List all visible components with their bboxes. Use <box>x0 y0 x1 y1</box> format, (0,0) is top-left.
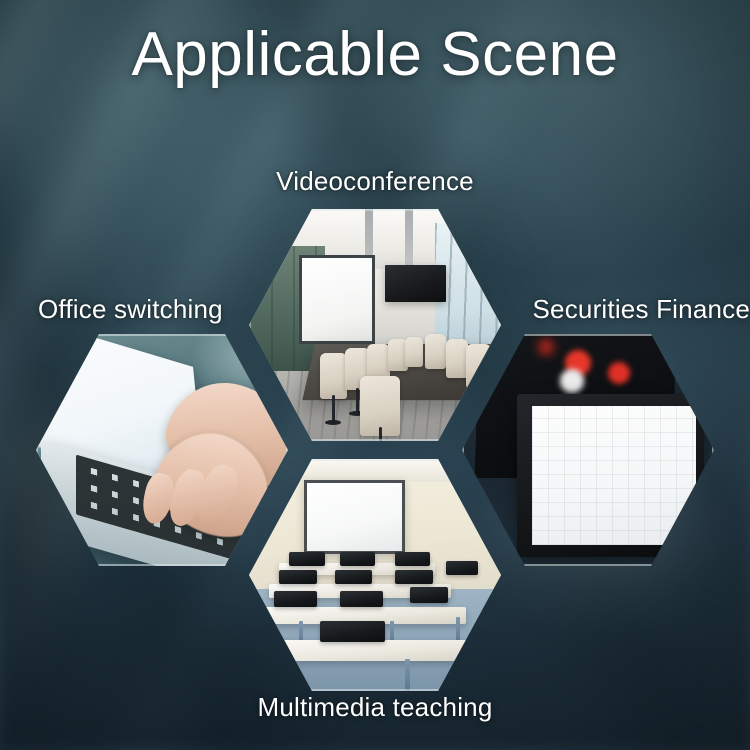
label-videoconference: Videoconference <box>0 168 750 194</box>
bokeh-light <box>538 339 554 355</box>
wall-tv-icon <box>385 265 445 302</box>
label-office-switching: Office switching <box>38 296 223 322</box>
bokeh-light <box>608 362 630 384</box>
label-multimedia-teaching: Multimedia teaching <box>0 694 750 720</box>
projection-screen <box>304 480 405 554</box>
applicable-scene-banner: Applicable Scene <box>0 0 750 750</box>
candlestick-chart <box>532 406 696 546</box>
label-securities-finance: Securities Finance <box>510 296 750 322</box>
bokeh-light <box>560 369 584 393</box>
page-title: Applicable Scene <box>0 24 750 86</box>
